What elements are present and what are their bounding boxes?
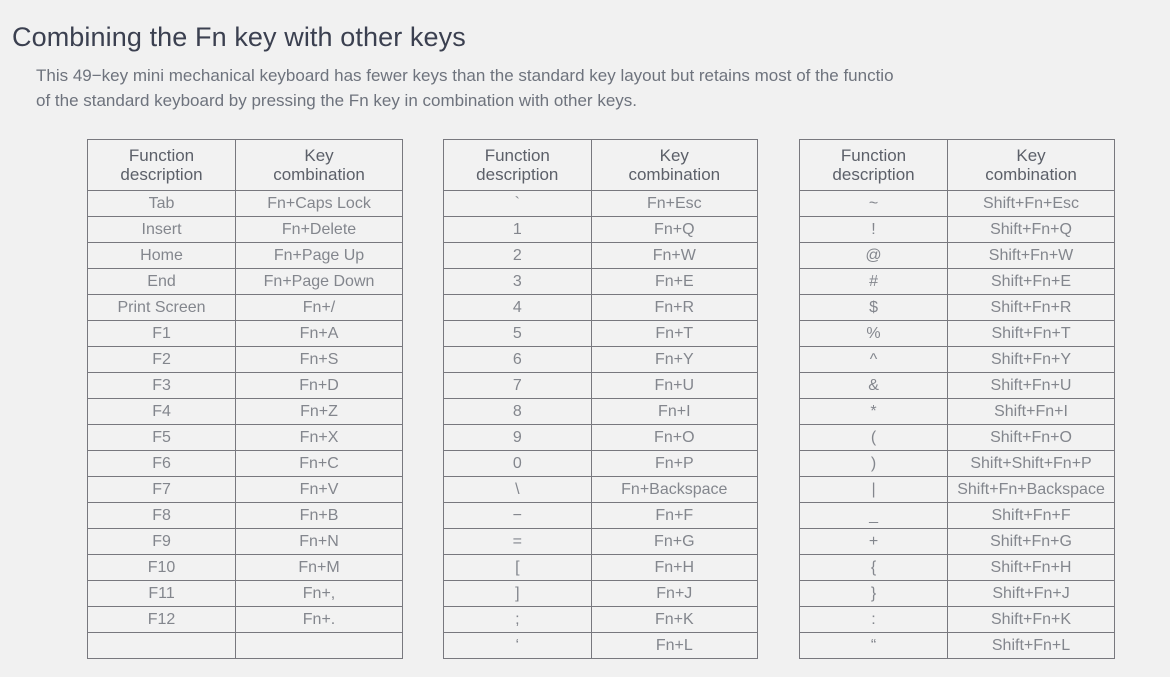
cell-key-combination: Fn+/: [236, 295, 403, 321]
table-row: −Fn+F: [444, 503, 758, 529]
table-1-body: TabFn+Caps LockInsertFn+DeleteHomeFn+Pag…: [88, 191, 403, 659]
cell-function-description: :: [800, 607, 948, 633]
table-row: ;Fn+K: [444, 607, 758, 633]
cell-function-description: 2: [444, 243, 592, 269]
cell-key-combination: Shift+Fn+O: [948, 425, 1115, 451]
column-header-function-description: Function description: [800, 140, 948, 191]
cell-key-combination: Fn+S: [236, 347, 403, 373]
cell-key-combination: Fn+T: [591, 321, 757, 347]
cell-function-description: }: [800, 581, 948, 607]
table-row: F5Fn+X: [88, 425, 403, 451]
table-2-head: Function description Key combination: [444, 140, 758, 191]
cell-function-description: ;: [444, 607, 592, 633]
table-header-row: Function description Key combination: [444, 140, 758, 191]
cell-key-combination: Fn+Page Down: [236, 269, 403, 295]
page-title: Combining the Fn key with other keys: [12, 22, 466, 53]
table-row: 2Fn+W: [444, 243, 758, 269]
cell-function-description: Insert: [88, 217, 236, 243]
cell-key-combination: Shift+Fn+Y: [948, 347, 1115, 373]
table-row: TabFn+Caps Lock: [88, 191, 403, 217]
cell-function-description: \: [444, 477, 592, 503]
cell-key-combination: Fn+Delete: [236, 217, 403, 243]
cell-function-description: +: [800, 529, 948, 555]
cell-key-combination: Shift+Fn+T: [948, 321, 1115, 347]
page-subtitle: This 49−key mini mechanical keyboard has…: [36, 63, 1170, 113]
cell-function-description: 6: [444, 347, 592, 373]
cell-function-description: $: [800, 295, 948, 321]
table-row: 5Fn+T: [444, 321, 758, 347]
cell-key-combination: Fn+K: [591, 607, 757, 633]
table-2-body: `Fn+Esc1Fn+Q2Fn+W3Fn+E4Fn+R5Fn+T6Fn+Y7Fn…: [444, 191, 758, 659]
cell-key-combination: Fn+Y: [591, 347, 757, 373]
cell-key-combination: Fn+Z: [236, 399, 403, 425]
table-row: InsertFn+Delete: [88, 217, 403, 243]
table-row: ^Shift+Fn+Y: [800, 347, 1115, 373]
cell-function-description: Print Screen: [88, 295, 236, 321]
cell-function-description: 9: [444, 425, 592, 451]
cell-key-combination: Shift+Fn+F: [948, 503, 1115, 529]
table-row: (Shift+Fn+O: [800, 425, 1115, 451]
cell-key-combination: Fn+W: [591, 243, 757, 269]
cell-function-description: F7: [88, 477, 236, 503]
cell-key-combination: Fn+P: [591, 451, 757, 477]
cell-function-description: ^: [800, 347, 948, 373]
cell-key-combination: Shift+Fn+Q: [948, 217, 1115, 243]
cell-function-description: [: [444, 555, 592, 581]
cell-key-combination: Shift+Fn+J: [948, 581, 1115, 607]
table-row: EndFn+Page Down: [88, 269, 403, 295]
table-row: 0Fn+P: [444, 451, 758, 477]
table-row: F1Fn+A: [88, 321, 403, 347]
table-row: $Shift+Fn+R: [800, 295, 1115, 321]
cell-key-combination: Shift+Fn+K: [948, 607, 1115, 633]
table-row: @Shift+Fn+W: [800, 243, 1115, 269]
key-combination-table-1: Function description Key combination Tab…: [87, 139, 403, 659]
column-header-function-description: Function description: [444, 140, 592, 191]
table-row: F12Fn+.: [88, 607, 403, 633]
table-row: #Shift+Fn+E: [800, 269, 1115, 295]
cell-key-combination: Fn+,: [236, 581, 403, 607]
cell-function-description: End: [88, 269, 236, 295]
cell-key-combination: Fn+Caps Lock: [236, 191, 403, 217]
cell-key-combination: Shift+Fn+L: [948, 633, 1115, 659]
table-row: _Shift+Fn+F: [800, 503, 1115, 529]
cell-function-description: 7: [444, 373, 592, 399]
cell-key-combination: Fn+E: [591, 269, 757, 295]
cell-key-combination: Fn+R: [591, 295, 757, 321]
cell-key-combination: Fn+Q: [591, 217, 757, 243]
page-subtitle-line-1: This 49−key mini mechanical keyboard has…: [36, 63, 1170, 88]
cell-function-description: F5: [88, 425, 236, 451]
table-row: %Shift+Fn+T: [800, 321, 1115, 347]
cell-function-description: ]: [444, 581, 592, 607]
cell-key-combination: Fn+F: [591, 503, 757, 529]
cell-function-description: F6: [88, 451, 236, 477]
table-row: :Shift+Fn+K: [800, 607, 1115, 633]
table-row: F4Fn+Z: [88, 399, 403, 425]
cell-function-description: |: [800, 477, 948, 503]
table-row: [Fn+H: [444, 555, 758, 581]
cell-key-combination: Fn+J: [591, 581, 757, 607]
table-row: F8Fn+B: [88, 503, 403, 529]
cell-function-description: 8: [444, 399, 592, 425]
table-row: +Shift+Fn+G: [800, 529, 1115, 555]
cell-key-combination: Fn+O: [591, 425, 757, 451]
cell-function-description: F4: [88, 399, 236, 425]
table-row: Print ScreenFn+/: [88, 295, 403, 321]
cell-key-combination: Shift+Fn+E: [948, 269, 1115, 295]
table-row: “Shift+Fn+L: [800, 633, 1115, 659]
cell-function-description: !: [800, 217, 948, 243]
cell-function-description: F2: [88, 347, 236, 373]
cell-key-combination: Shift+Fn+W: [948, 243, 1115, 269]
cell-function-description: _: [800, 503, 948, 529]
table-row: }Shift+Fn+J: [800, 581, 1115, 607]
table-row: 8Fn+I: [444, 399, 758, 425]
cell-key-combination: Fn+A: [236, 321, 403, 347]
cell-key-combination: Shift+Fn+H: [948, 555, 1115, 581]
cell-key-combination: Shift+Fn+U: [948, 373, 1115, 399]
cell-key-combination: Fn+H: [591, 555, 757, 581]
cell-key-combination: [236, 633, 403, 659]
table-row: F3Fn+D: [88, 373, 403, 399]
table-header-row: Function description Key combination: [800, 140, 1115, 191]
cell-key-combination: Fn+V: [236, 477, 403, 503]
cell-function-description: −: [444, 503, 592, 529]
cell-key-combination: Fn+N: [236, 529, 403, 555]
cell-function-description: ): [800, 451, 948, 477]
cell-function-description: F9: [88, 529, 236, 555]
cell-key-combination: Fn+B: [236, 503, 403, 529]
cell-function-description: %: [800, 321, 948, 347]
page-subtitle-line-2: of the standard keyboard by pressing the…: [36, 88, 1170, 113]
cell-key-combination: Fn+L: [591, 633, 757, 659]
cell-function-description: @: [800, 243, 948, 269]
table-1-head: Function description Key combination: [88, 140, 403, 191]
cell-key-combination: Shift+Fn+R: [948, 295, 1115, 321]
table-row: 3Fn+E: [444, 269, 758, 295]
cell-function-description: ‘: [444, 633, 592, 659]
cell-key-combination: Shift+Shift+Fn+P: [948, 451, 1115, 477]
table-row: *Shift+Fn+I: [800, 399, 1115, 425]
cell-function-description: [88, 633, 236, 659]
table-row: ‘Fn+L: [444, 633, 758, 659]
cell-function-description: “: [800, 633, 948, 659]
column-header-key-combination: Key combination: [591, 140, 757, 191]
cell-key-combination: Shift+Fn+Backspace: [948, 477, 1115, 503]
cell-function-description: (: [800, 425, 948, 451]
key-combination-table-3: Function description Key combination ~Sh…: [799, 139, 1115, 659]
cell-function-description: F10: [88, 555, 236, 581]
cell-function-description: #: [800, 269, 948, 295]
table-row: 6Fn+Y: [444, 347, 758, 373]
cell-function-description: {: [800, 555, 948, 581]
cell-function-description: 4: [444, 295, 592, 321]
column-header-key-combination: Key combination: [236, 140, 403, 191]
cell-function-description: F12: [88, 607, 236, 633]
table-row: )Shift+Shift+Fn+P: [800, 451, 1115, 477]
table-3-body: ~Shift+Fn+Esc!Shift+Fn+Q@Shift+Fn+W#Shif…: [800, 191, 1115, 659]
cell-function-description: Home: [88, 243, 236, 269]
cell-key-combination: Fn+G: [591, 529, 757, 555]
table-row: 4Fn+R: [444, 295, 758, 321]
table-row: F11Fn+,: [88, 581, 403, 607]
table-row: F2Fn+S: [88, 347, 403, 373]
cell-function-description: *: [800, 399, 948, 425]
table-row: [88, 633, 403, 659]
cell-function-description: `: [444, 191, 592, 217]
cell-function-description: ~: [800, 191, 948, 217]
key-combination-table-2: Function description Key combination `Fn…: [443, 139, 758, 659]
table-header-row: Function description Key combination: [88, 140, 403, 191]
table-3-head: Function description Key combination: [800, 140, 1115, 191]
cell-key-combination: Shift+Fn+G: [948, 529, 1115, 555]
column-header-function-description: Function description: [88, 140, 236, 191]
table-row: ~Shift+Fn+Esc: [800, 191, 1115, 217]
table-row: |Shift+Fn+Backspace: [800, 477, 1115, 503]
cell-function-description: F1: [88, 321, 236, 347]
cell-function-description: F8: [88, 503, 236, 529]
cell-key-combination: Fn+X: [236, 425, 403, 451]
cell-function-description: 5: [444, 321, 592, 347]
cell-function-description: Tab: [88, 191, 236, 217]
table-row: =Fn+G: [444, 529, 758, 555]
table-row: HomeFn+Page Up: [88, 243, 403, 269]
table-row: 1Fn+Q: [444, 217, 758, 243]
table-row: !Shift+Fn+Q: [800, 217, 1115, 243]
cell-key-combination: Fn+Backspace: [591, 477, 757, 503]
table-row: F6Fn+C: [88, 451, 403, 477]
cell-key-combination: Shift+Fn+I: [948, 399, 1115, 425]
cell-function-description: &: [800, 373, 948, 399]
cell-function-description: F11: [88, 581, 236, 607]
table-row: `Fn+Esc: [444, 191, 758, 217]
table-row: \Fn+Backspace: [444, 477, 758, 503]
cell-key-combination: Shift+Fn+Esc: [948, 191, 1115, 217]
cell-key-combination: Fn+Page Up: [236, 243, 403, 269]
table-row: &Shift+Fn+U: [800, 373, 1115, 399]
key-combination-tables: Function description Key combination Tab…: [0, 139, 1170, 669]
cell-key-combination: Fn+U: [591, 373, 757, 399]
table-row: F7Fn+V: [88, 477, 403, 503]
cell-key-combination: Fn+C: [236, 451, 403, 477]
cell-function-description: 1: [444, 217, 592, 243]
cell-key-combination: Fn+.: [236, 607, 403, 633]
table-row: 9Fn+O: [444, 425, 758, 451]
column-header-key-combination: Key combination: [948, 140, 1115, 191]
cell-key-combination: Fn+M: [236, 555, 403, 581]
table-row: ]Fn+J: [444, 581, 758, 607]
table-row: 7Fn+U: [444, 373, 758, 399]
table-row: F10Fn+M: [88, 555, 403, 581]
cell-key-combination: Fn+Esc: [591, 191, 757, 217]
cell-function-description: 0: [444, 451, 592, 477]
cell-key-combination: Fn+I: [591, 399, 757, 425]
cell-function-description: =: [444, 529, 592, 555]
table-row: F9Fn+N: [88, 529, 403, 555]
cell-function-description: F3: [88, 373, 236, 399]
cell-key-combination: Fn+D: [236, 373, 403, 399]
cell-function-description: 3: [444, 269, 592, 295]
table-row: {Shift+Fn+H: [800, 555, 1115, 581]
